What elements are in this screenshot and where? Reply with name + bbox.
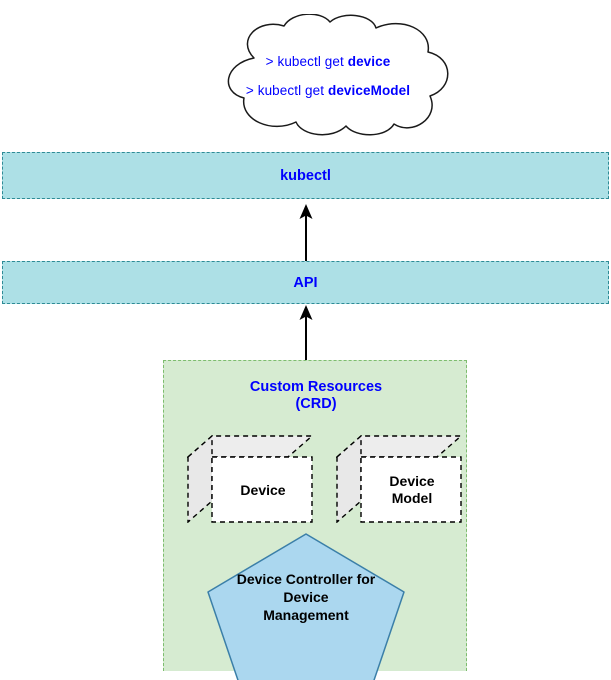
cube-icon [336, 435, 462, 523]
cube-icon [187, 435, 313, 523]
cloud-shape [196, 14, 460, 138]
diagram-canvas: > kubectl get device > kubectl get devic… [0, 0, 611, 671]
device-controller-pentagon: Device Controller for Device Management [206, 532, 406, 680]
band-kubectl: kubectl [2, 152, 609, 199]
band-api-label: API [293, 275, 317, 291]
crd-title-line2: (CRD) [164, 396, 468, 413]
arrow-api-to-kubectl [296, 203, 316, 261]
box-device-model: Device Model [336, 435, 462, 523]
band-kubectl-label: kubectl [280, 168, 331, 184]
arrow-up-icon [296, 304, 316, 362]
crd-title-line1: Custom Resources [164, 379, 468, 396]
band-api: API [2, 261, 609, 304]
arrow-crd-to-api [296, 304, 316, 362]
crd-panel: Custom Resources (CRD) Device De [163, 360, 467, 671]
arrow-up-icon [296, 203, 316, 261]
command-cloud: > kubectl get device > kubectl get devic… [196, 14, 460, 138]
crd-panel-title: Custom Resources (CRD) [164, 379, 468, 413]
box-device: Device [187, 435, 313, 523]
pentagon-shape [206, 532, 406, 680]
